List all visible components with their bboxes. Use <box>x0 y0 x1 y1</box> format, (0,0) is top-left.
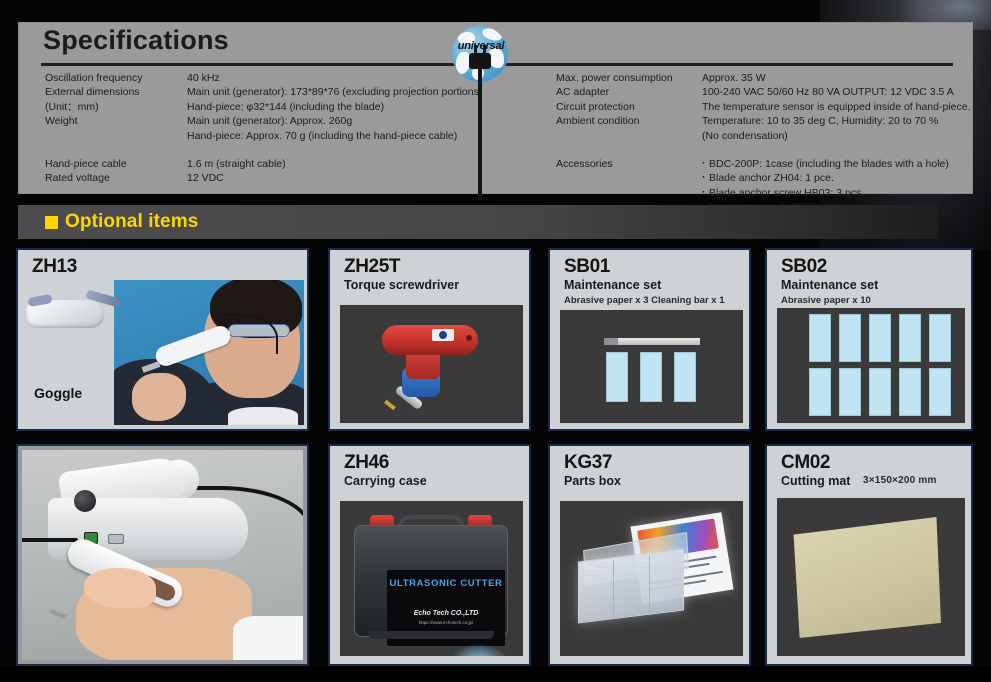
abrasive-paper <box>929 314 951 362</box>
product-card-zh25t[interactable]: ZH25T Torque screwdriver <box>328 248 531 431</box>
specifications-panel: Specifications Oscillation frequency 40 … <box>18 22 973 194</box>
card-title: SB01 <box>564 256 610 278</box>
torque-screwdriver-photo <box>340 305 523 423</box>
spec-row: (Unit：mm) Hand-piece: φ32*144 (including… <box>45 100 515 114</box>
accessory-item: BDC-200P: 1case (including the blades wi… <box>702 157 976 171</box>
spec-row: Weight Main unit (generator): Approx. 26… <box>45 114 515 128</box>
spec-value: Hand-piece: φ32*144 (including the blade… <box>187 100 515 114</box>
spec-value: 100-240 VAC 50/60 Hz 80 VA OUTPUT: 12 VD… <box>702 85 976 99</box>
spec-value: Temperature: 10 to 35 deg C, Humidity: 2… <box>702 114 976 128</box>
abrasive-paper <box>899 314 921 362</box>
spec-value: 12 VDC <box>187 171 515 185</box>
abrasive-papers-photo <box>777 308 965 423</box>
spacer <box>45 143 515 157</box>
product-card-zh13[interactable]: ZH13 Goggle <box>16 248 309 431</box>
card-product-label: Goggle <box>34 385 82 401</box>
cutting-mat <box>789 512 941 638</box>
worker-hand <box>132 373 186 421</box>
abrasive-paper <box>839 314 861 362</box>
abrasive-paper <box>640 352 662 402</box>
abrasive-papers-and-cleaning-bar-photo <box>560 310 743 423</box>
spec-label: Weight <box>45 114 187 128</box>
card-title: KG37 <box>564 452 612 474</box>
worker-collar <box>228 407 298 425</box>
spec-label: Ambient condition <box>556 114 702 128</box>
spec-row: Ambient condition Temperature: 10 to 35 … <box>556 114 976 128</box>
abrasive-paper <box>809 314 831 362</box>
spec-label: Rated voltage <box>45 171 187 185</box>
abrasive-paper <box>674 352 696 402</box>
abrasive-paper <box>929 368 951 416</box>
page-root: Specifications Oscillation frequency 40 … <box>0 0 991 682</box>
spec-label: AC adapter <box>556 85 702 99</box>
spec-label: External dimensions <box>45 85 187 99</box>
spec-row: (No condensation) <box>556 129 976 143</box>
product-card-zh46[interactable]: ZH46 Carrying case ULTRASONIC CUTTER Ech… <box>328 444 531 666</box>
parts-box-photo <box>560 501 743 656</box>
product-card-cm02[interactable]: CM02 Cutting mat 3×150×200 mm <box>765 444 973 666</box>
abrasive-paper <box>899 368 921 416</box>
product-card-kg37[interactable]: KG37 Parts box <box>548 444 751 666</box>
spacer <box>556 143 976 157</box>
box-divider <box>649 556 650 614</box>
abrasive-paper <box>869 368 891 416</box>
card-title: ZH25T <box>344 256 400 278</box>
spec-label: (Unit：mm) <box>45 100 187 114</box>
spec-row: Circuit protection The temperature senso… <box>556 100 976 114</box>
case-logo-text: Echo Tech CO.,LTD <box>387 610 505 617</box>
spec-value: (No condensation) <box>702 129 976 143</box>
spec-label: Hand-piece cable <box>45 157 187 171</box>
box-divider <box>613 560 614 618</box>
parts-box-body <box>578 548 684 623</box>
goggle-and-worker-photo <box>114 280 304 425</box>
cutter-blade <box>50 609 66 619</box>
spec-row: External dimensions Main unit (generator… <box>45 85 515 99</box>
carrying-case-photo: ULTRASONIC CUTTER Echo Tech CO.,LTD http… <box>340 501 523 656</box>
spec-row: Hand-piece cable 1.6 m (straight cable) <box>45 157 515 171</box>
spec-value: The temperature sensor is equipped insid… <box>702 100 976 114</box>
spec-value: Approx. 35 W <box>702 71 976 85</box>
title-divider <box>41 63 953 66</box>
screwdriver-badge-dot <box>439 331 447 339</box>
card-title: SB02 <box>781 256 827 278</box>
specifications-right-column: Max. power consumption Approx. 35 W AC a… <box>556 71 976 215</box>
card-subtitle: Maintenance set <box>781 278 878 292</box>
power-cable <box>22 538 78 542</box>
spec-row: Rated voltage 12 VDC <box>45 171 515 185</box>
hand-holding-handpiece-photo <box>22 450 303 660</box>
screwdriver-tip <box>384 400 396 411</box>
case-body: ULTRASONIC CUTTER Echo Tech CO.,LTD http… <box>354 525 508 637</box>
spec-row: Oscillation frequency 40 kHz <box>45 71 515 85</box>
spec-value: Main unit (generator): 173*89*76 (exclud… <box>187 85 515 99</box>
bullet-square-icon <box>45 216 58 229</box>
bottom-bar <box>0 666 991 682</box>
screwdriver-handle <box>382 325 478 355</box>
abrasive-paper <box>869 314 891 362</box>
goggle-product-image <box>26 292 112 338</box>
spec-value: 1.6 m (straight cable) <box>187 157 515 171</box>
cleaning-bar-grip <box>604 338 618 345</box>
spec-label: Oscillation frequency <box>45 71 187 85</box>
spec-label: Circuit protection <box>556 100 702 114</box>
case-base <box>368 631 494 639</box>
spec-row: AC adapter 100-240 VAC 50/60 Hz 80 VA OU… <box>556 85 976 99</box>
card-dimensions: 3×150×200 mm <box>863 475 937 486</box>
optional-items-header: Optional items <box>18 205 938 239</box>
product-card-sb01[interactable]: SB01 Maintenance set Abrasive paper x 3 … <box>548 248 751 431</box>
card-title: CM02 <box>781 452 830 474</box>
card-note: Abrasive paper x 3 Cleaning bar x 1 <box>564 295 725 306</box>
spec-value: Hand-piece: Approx. 70 g (including the … <box>187 129 515 143</box>
abrasive-paper <box>606 352 628 402</box>
case-url-text: https://www.echotech.co.jp/ <box>387 620 505 625</box>
accessory-item: Blade anchor screw HB03: 3 pcs. <box>702 186 976 200</box>
optional-items-title: Optional items <box>65 211 198 233</box>
case-glow <box>451 644 507 656</box>
sleeve-cuff <box>233 616 303 660</box>
cleaning-bar <box>604 338 700 345</box>
card-subtitle: Carrying case <box>344 474 427 488</box>
spec-row: Max. power consumption Approx. 35 W <box>556 71 976 85</box>
spec-row: Hand-piece: Approx. 70 g (including the … <box>45 129 515 143</box>
accessories-label: Accessories <box>556 157 702 171</box>
product-card-handpiece-photo[interactable] <box>16 444 309 666</box>
spec-value: 40 kHz <box>187 71 515 85</box>
spec-label: Max. power consumption <box>556 71 702 85</box>
generator-port <box>108 534 124 544</box>
card-subtitle: Cutting mat <box>781 474 850 488</box>
generator-knob <box>74 490 96 512</box>
case-brand-text: ULTRASONIC CUTTER <box>387 578 505 589</box>
card-subtitle: Maintenance set <box>564 278 661 292</box>
card-title: ZH46 <box>344 452 389 474</box>
accessory-item: Blade anchor ZH04: 1 pce. <box>702 171 976 185</box>
card-note: Abrasive paper x 10 <box>781 295 871 306</box>
cutting-mat-photo <box>777 498 965 656</box>
spec-value: Main unit (generator): Approx. 260g <box>187 114 515 128</box>
specifications-left-column: Oscillation frequency 40 kHz External di… <box>45 71 515 186</box>
card-subtitle: Torque screwdriver <box>344 278 459 292</box>
product-card-sb02[interactable]: SB02 Maintenance set Abrasive paper x 10 <box>765 248 973 431</box>
card-subtitle: Parts box <box>564 474 621 488</box>
abrasive-paper <box>839 368 861 416</box>
screwdriver-hole <box>466 335 472 341</box>
abrasive-paper <box>809 368 831 416</box>
specifications-title: Specifications <box>43 25 229 56</box>
thumb <box>84 568 156 608</box>
card-title: ZH13 <box>32 256 77 278</box>
